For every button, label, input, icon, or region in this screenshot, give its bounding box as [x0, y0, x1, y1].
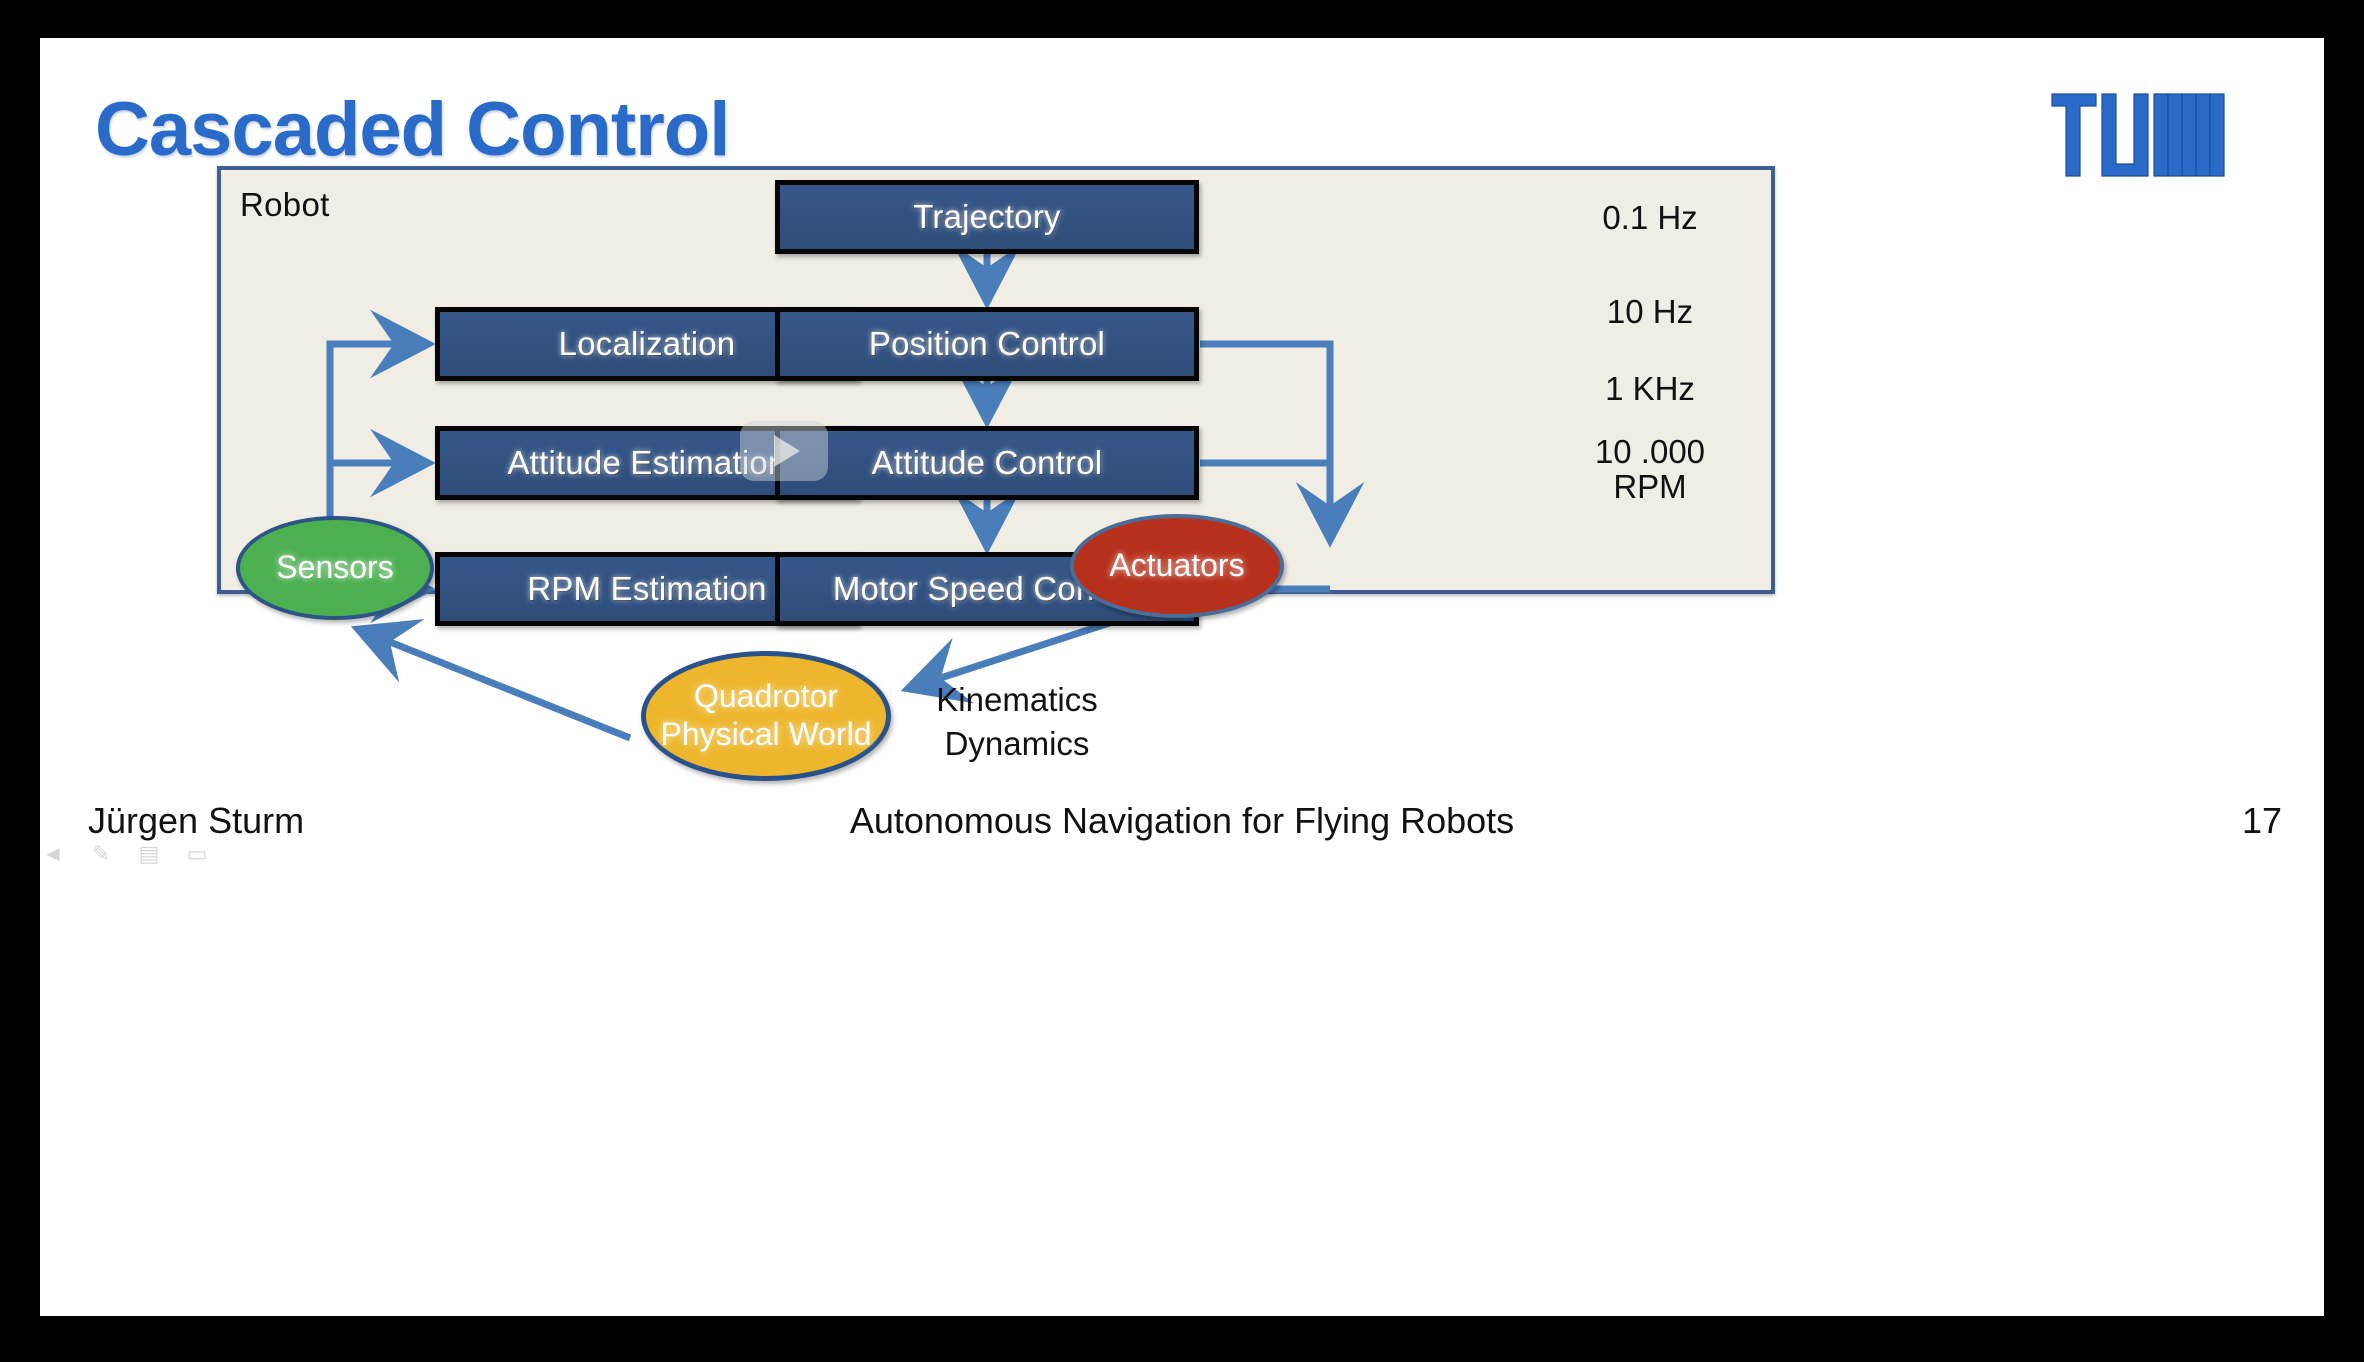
rate-label-trajectory: 0.1 Hz: [1535, 200, 1765, 235]
annotation-kinematics: Kinematics: [902, 678, 1132, 722]
box-attitude-control[interactable]: Attitude Control: [775, 426, 1199, 500]
rate-label-motor-line1: 10 .000: [1535, 434, 1765, 469]
rate-label-attitude: 1 KHz: [1535, 371, 1765, 406]
menu-icon[interactable]: ▤: [136, 843, 162, 865]
slide-canvas: Cascaded Control Robot: [40, 38, 2324, 1316]
rate-label-motor: 10 .000 RPM: [1535, 434, 1765, 505]
slides-icon[interactable]: ▭: [184, 843, 210, 865]
rate-label-position: 10 Hz: [1535, 294, 1765, 329]
annotation-dynamics: Dynamics: [902, 722, 1132, 766]
pen-icon[interactable]: ✎: [88, 843, 114, 865]
tum-logo: [2050, 90, 2230, 180]
node-quadrotor-physical-world[interactable]: Quadrotor Physical World: [641, 651, 891, 781]
node-quadrotor-line2: Physical World: [660, 716, 871, 754]
presenter-toolbar[interactable]: ◄ ✎ ▤ ▭: [40, 843, 210, 865]
node-quadrotor-line1: Quadrotor: [660, 678, 871, 716]
footer-page-number: 17: [40, 800, 2282, 842]
box-position-control[interactable]: Position Control: [775, 307, 1199, 381]
play-triangle: [774, 435, 800, 467]
rate-label-motor-line2: RPM: [1535, 469, 1765, 504]
page-title: Cascaded Control: [95, 86, 729, 173]
robot-panel-label: Robot: [240, 186, 330, 224]
node-actuators[interactable]: Actuators: [1070, 514, 1284, 618]
box-trajectory[interactable]: Trajectory: [775, 180, 1199, 254]
play-icon[interactable]: [740, 421, 828, 481]
node-sensors[interactable]: Sensors: [236, 516, 434, 620]
annotation-kinematics-dynamics: Kinematics Dynamics: [902, 678, 1132, 766]
back-arrow-icon[interactable]: ◄: [40, 843, 66, 865]
